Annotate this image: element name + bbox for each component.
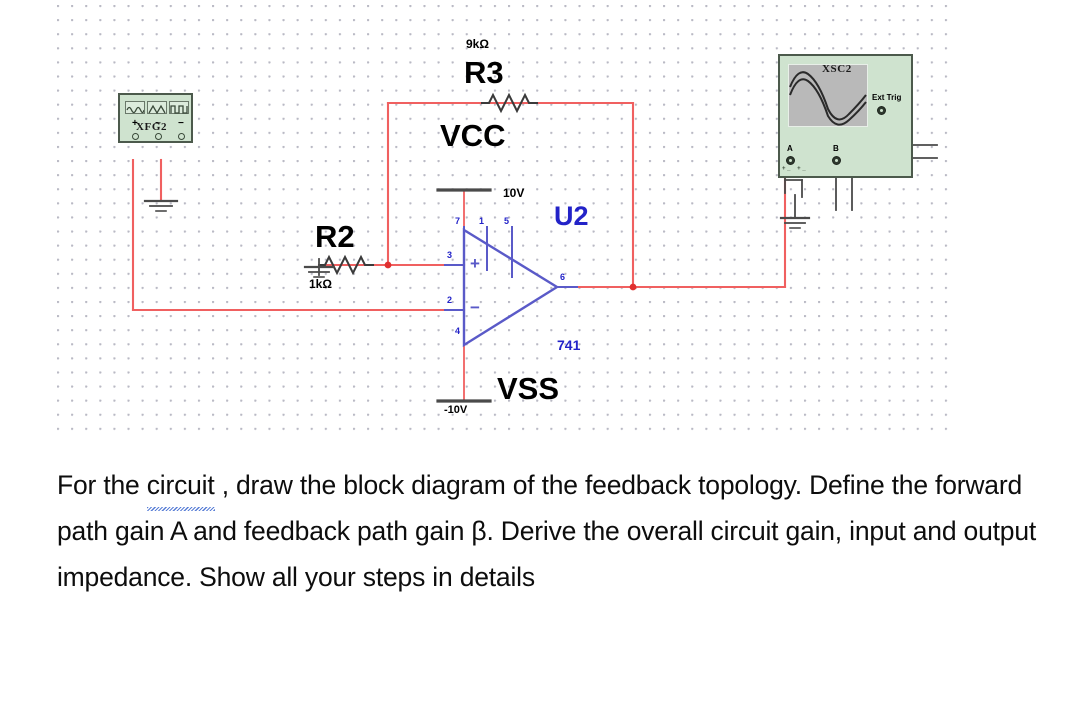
pin-number-6: 6 <box>560 273 565 282</box>
triangle-wave-glyph <box>148 104 166 115</box>
channel-a-label: A <box>787 145 793 153</box>
xfg2-label: XFG2 <box>136 122 167 133</box>
junction-dot-noninverting <box>385 262 392 269</box>
channel-a-terminal[interactable] <box>786 156 795 165</box>
r3-ref-label: R3 <box>464 57 504 88</box>
xfg-terminal-minus[interactable] <box>178 133 185 140</box>
xfg-terminal-plus[interactable] <box>132 133 139 140</box>
question-text-part-1: For the <box>57 470 147 500</box>
schematic-canvas: + ~ − XFG2 Ext Trig A B + _ + _ XSC2 9kΩ… <box>57 5 955 437</box>
r2-value-label: 1kΩ <box>309 278 332 290</box>
ground-symbol-xfg <box>145 201 177 211</box>
xfg-terminal-common[interactable] <box>155 133 162 140</box>
junction-dot-output <box>630 284 637 291</box>
pin-number-2: 2 <box>447 296 452 305</box>
sine-wave-glyph <box>126 104 144 115</box>
opamp-part-label: 741 <box>557 338 580 352</box>
square-wave-glyph <box>170 104 188 115</box>
ext-trig-label: Ext Trig <box>872 94 901 102</box>
pin-number-1: 1 <box>479 217 484 226</box>
pin-number-3: 3 <box>447 251 452 260</box>
pin-number-5: 5 <box>504 217 509 226</box>
pin-number-4: 4 <box>455 327 460 336</box>
vss-label: VSS <box>497 373 559 404</box>
opamp-minus-sign: − <box>470 299 480 316</box>
square-wave-icon[interactable] <box>169 101 189 114</box>
r2-ref-label: R2 <box>315 221 355 252</box>
terminal-polarity-marks: + _ + _ <box>782 166 806 172</box>
sine-wave-icon[interactable] <box>125 101 145 114</box>
vcc-value-label: 10V <box>503 187 524 199</box>
r3-value-label: 9kΩ <box>466 38 489 50</box>
misspelled-word: circuit <box>147 462 215 508</box>
xfg-terminal-minus-label: − <box>178 119 184 129</box>
opamp-triangle <box>464 230 557 345</box>
channel-b-label: B <box>833 145 839 153</box>
channel-b-terminal[interactable] <box>832 156 841 165</box>
xsc2-label: XSC2 <box>822 64 852 75</box>
function-generator-xfg2[interactable]: + ~ − <box>118 93 193 143</box>
triangle-wave-icon[interactable] <box>147 101 167 114</box>
opamp-plus-sign: + <box>470 255 480 272</box>
vcc-label: VCC <box>440 120 505 151</box>
vss-value-label: -10V <box>444 405 467 416</box>
pin-number-7: 7 <box>455 217 460 226</box>
u2-label: U2 <box>554 203 589 230</box>
ground-symbol-r2 <box>305 259 333 277</box>
ext-trig-terminal[interactable] <box>877 106 886 115</box>
question-text: For the circuit , draw the block diagram… <box>57 462 1047 600</box>
